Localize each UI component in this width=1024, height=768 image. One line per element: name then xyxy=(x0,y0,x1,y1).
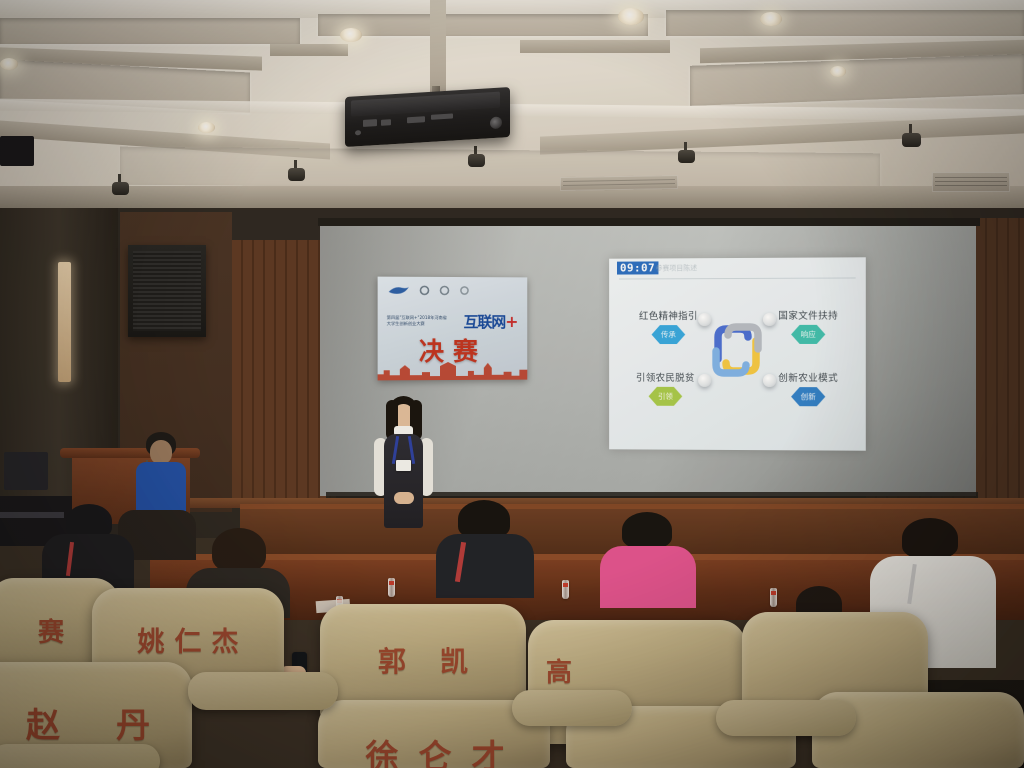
wall-accent-light xyxy=(58,262,71,382)
water-bottle xyxy=(770,588,777,607)
banner-subtitle-line-1: 第四届"互联网+"2018年河南省 xyxy=(387,315,453,321)
ceiling-light xyxy=(760,12,782,26)
slide-item-top-right: 国家文件扶持 响应 xyxy=(760,308,857,344)
slide-item-bottom-left: 引领农民脱贫 引领 xyxy=(619,370,712,406)
banner-brand-text: 互联网 xyxy=(464,313,506,331)
attendee-pink-shirt xyxy=(600,512,696,606)
seat-armrest xyxy=(512,690,632,726)
spotlight xyxy=(900,124,922,148)
spotlight xyxy=(676,142,696,164)
attendee-blue-shirt xyxy=(436,500,534,596)
seat-name-label: 高 xyxy=(528,652,746,689)
seat-armrest xyxy=(0,744,160,768)
water-bottle xyxy=(388,578,395,597)
slide-divider xyxy=(619,277,856,279)
water-bottle xyxy=(562,580,569,599)
spotlight xyxy=(466,146,486,168)
spotlight xyxy=(286,160,306,182)
ceiling-coffer xyxy=(0,18,300,44)
ceiling-vent xyxy=(560,175,678,191)
ceiling-coffer xyxy=(120,147,880,192)
seat-armrest xyxy=(188,672,338,710)
wall-speaker xyxy=(128,245,206,337)
hexagon-badge: 传承 xyxy=(652,325,686,344)
conference-hall-photo: 09:07 参赛项目陈述 红色精神指引 传承 国家文件扶持 响应 引领农民脱贫 … xyxy=(0,0,1024,768)
seat-name-label: 姚仁杰 xyxy=(92,620,284,659)
sponsor-logo-icon xyxy=(439,285,450,296)
skyline-graphic xyxy=(378,360,528,381)
banner-sponsor-logos xyxy=(388,285,470,296)
competition-banner: 第四届"互联网+"2018年河南省 大学生创新创业大赛 互联网+ 决赛 xyxy=(378,277,528,381)
spotlight xyxy=(110,174,130,196)
ceiling-coffer xyxy=(666,10,1024,36)
hexagon-badge: 引领 xyxy=(649,387,683,406)
ceiling-vent xyxy=(932,172,1010,192)
ceiling-light xyxy=(0,58,18,70)
presenter-speaker xyxy=(368,396,438,528)
presentation-timer: 09:07 xyxy=(617,261,658,274)
ceiling-beam xyxy=(520,40,670,53)
banner-subtitle-line-2: 大学生创新创业大赛 xyxy=(387,321,453,327)
screen-top-bar xyxy=(318,218,980,226)
sponsor-logo-icon xyxy=(419,285,430,296)
ceiling-light xyxy=(340,28,362,42)
ceiling-coffer xyxy=(318,14,648,36)
hands xyxy=(394,492,414,504)
seat-name-label: 徐仑才 xyxy=(318,730,550,768)
ceiling-light xyxy=(830,66,846,77)
ceiling-light xyxy=(198,122,215,133)
banner-brand: 互联网+ xyxy=(464,311,518,332)
av-monitor xyxy=(4,452,48,490)
bird-logo-icon xyxy=(388,285,410,296)
hexagon-badge: 创新 xyxy=(791,387,825,406)
seat-armrest xyxy=(716,700,856,736)
ceiling-projector xyxy=(345,87,510,147)
ceiling-beam xyxy=(0,186,1024,208)
banner-plus-symbol: + xyxy=(505,312,517,331)
sponsor-logo-icon xyxy=(459,285,470,296)
projector-mount xyxy=(430,0,446,92)
ppt-slide: 09:07 参赛项目陈述 红色精神指引 传承 国家文件扶持 响应 引领农民脱贫 … xyxy=(609,257,866,450)
name-badge xyxy=(396,460,411,471)
seat-name-label: 赵丹 xyxy=(0,698,192,747)
ceiling-speaker xyxy=(0,136,34,166)
slide-header-text: 参赛项目陈述 xyxy=(655,263,697,273)
hexagon-badge: 响应 xyxy=(791,325,825,344)
stage-trim xyxy=(240,504,1024,509)
knot-logo-icon xyxy=(702,315,772,385)
seat-name-label: 郭凯 xyxy=(320,640,526,680)
ceiling-beam xyxy=(270,44,348,56)
ceiling-light xyxy=(618,8,644,25)
